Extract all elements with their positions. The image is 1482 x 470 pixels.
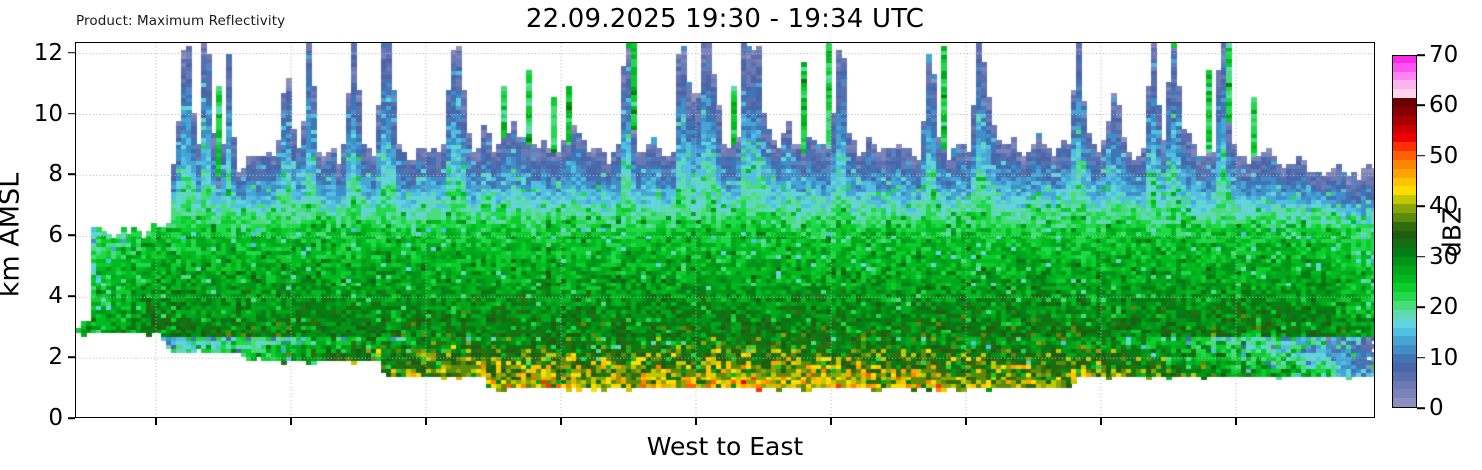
colorbar-segment	[1393, 89, 1416, 99]
colorbar-segment	[1393, 300, 1416, 310]
colorbar-segment	[1393, 177, 1416, 187]
colorbar-segment	[1393, 318, 1416, 328]
y-tick-mark	[68, 295, 75, 297]
colorbar-tick-mark	[1417, 256, 1425, 258]
colorbar-tick-label: 60	[1429, 92, 1458, 118]
colorbar-segment	[1393, 327, 1416, 337]
colorbar-tick-label: 0	[1429, 395, 1444, 421]
colorbar-segment	[1393, 203, 1416, 213]
colorbar-segment	[1393, 80, 1416, 90]
colorbar-segment	[1393, 247, 1416, 257]
y-tick-label: 2	[48, 344, 63, 370]
y-tick-label: 6	[48, 222, 63, 248]
colorbar-segment	[1393, 371, 1416, 381]
colorbar-segment	[1393, 186, 1416, 196]
colorbar-segment	[1393, 397, 1416, 407]
colorbar-tick-mark	[1417, 105, 1425, 107]
colorbar-segment	[1393, 55, 1416, 63]
colorbar-segment	[1393, 283, 1416, 293]
colorbar-segment	[1393, 159, 1416, 169]
colorbar-segment	[1393, 274, 1416, 284]
page-title: 22.09.2025 19:30 - 19:34 UTC	[75, 4, 1375, 34]
colorbar-segment	[1393, 62, 1416, 72]
colorbar-segment	[1393, 230, 1416, 240]
colorbar-tick-mark	[1417, 54, 1425, 56]
colorbar-tick-mark	[1417, 306, 1425, 308]
colorbar-segment	[1393, 106, 1416, 116]
y-axis-label: km AMSL	[0, 173, 26, 297]
colorbar-segment	[1393, 292, 1416, 302]
x-tick-mark	[155, 418, 157, 425]
colorbar-segment	[1393, 389, 1416, 399]
colorbar-tick-mark	[1417, 155, 1425, 157]
colorbar-segment	[1393, 71, 1416, 81]
colorbar-segment	[1393, 256, 1416, 266]
x-tick-mark	[1235, 418, 1237, 425]
colorbar-segment	[1393, 380, 1416, 390]
y-tick-label: 0	[48, 405, 63, 431]
colorbar-tick-label: 20	[1429, 294, 1458, 320]
colorbar-segment	[1393, 309, 1416, 319]
colorbar-segment	[1393, 115, 1416, 125]
colorbar-tick-label: 50	[1429, 143, 1458, 169]
reflectivity-heatmap	[76, 43, 1375, 418]
colorbar-tick-mark	[1417, 357, 1425, 359]
colorbar-segment	[1393, 221, 1416, 231]
x-tick-mark	[290, 418, 292, 425]
colorbar-segment	[1393, 265, 1416, 275]
colorbar-segment	[1393, 336, 1416, 346]
y-tick-label: 4	[48, 283, 63, 309]
y-tick-mark	[68, 113, 75, 115]
y-tick-label: 8	[48, 161, 63, 187]
colorbar-title: dBZ	[1438, 207, 1467, 257]
colorbar-segment	[1393, 345, 1416, 355]
x-tick-mark	[830, 418, 832, 425]
colorbar-segment	[1393, 168, 1416, 178]
colorbar-segment	[1393, 195, 1416, 205]
y-tick-label: 12	[34, 40, 63, 66]
colorbar	[1392, 55, 1417, 408]
x-tick-mark	[695, 418, 697, 425]
y-tick-mark	[68, 417, 75, 419]
y-tick-mark	[68, 235, 75, 237]
colorbar-tick-mark	[1417, 407, 1425, 409]
colorbar-segment	[1393, 97, 1416, 107]
colorbar-tick-label: 10	[1429, 345, 1458, 371]
colorbar-segment	[1393, 142, 1416, 152]
colorbar-container: 010203040506070	[1392, 55, 1417, 408]
colorbar-segment	[1393, 133, 1416, 143]
colorbar-segment	[1393, 362, 1416, 372]
x-tick-mark	[560, 418, 562, 425]
colorbar-tick-label: 70	[1429, 42, 1458, 68]
colorbar-segment	[1393, 150, 1416, 160]
y-tick-mark	[68, 174, 75, 176]
x-tick-mark	[965, 418, 967, 425]
colorbar-tick-mark	[1417, 205, 1425, 207]
y-tick-label: 10	[34, 101, 63, 127]
colorbar-segment	[1393, 239, 1416, 249]
colorbar-segment	[1393, 353, 1416, 363]
y-tick-mark	[68, 356, 75, 358]
radar-cross-section-figure: Product: Maximum Reflectivity 22.09.2025…	[0, 0, 1482, 470]
x-tick-mark	[1100, 418, 1102, 425]
plot-area	[75, 42, 1375, 418]
colorbar-segment	[1393, 124, 1416, 134]
y-tick-mark	[68, 52, 75, 54]
x-tick-mark	[425, 418, 427, 425]
colorbar-segment	[1393, 212, 1416, 222]
x-axis-label: West to East	[75, 432, 1375, 461]
